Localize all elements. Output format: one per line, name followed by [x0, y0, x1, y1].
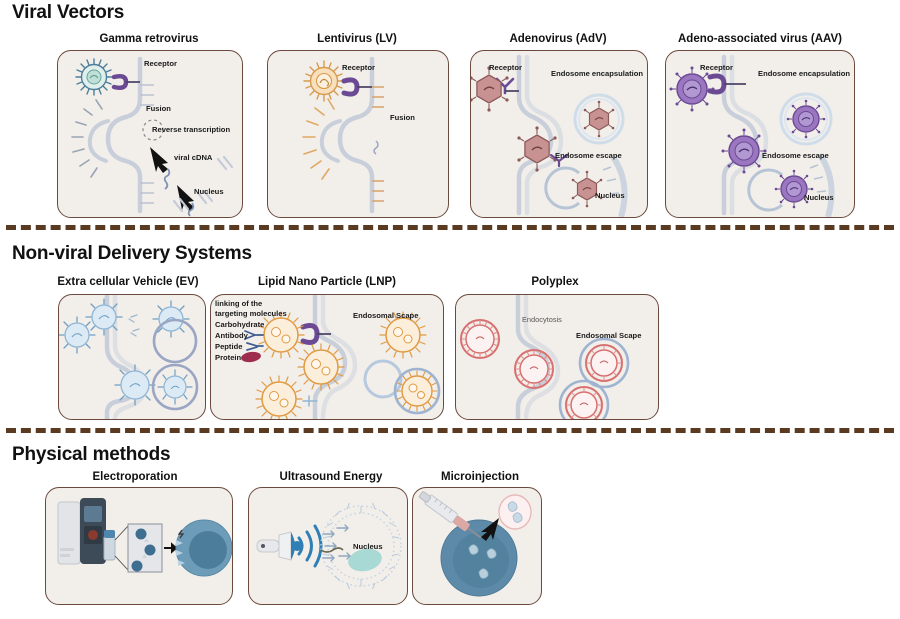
panel-polyplex: Endocytosis Endosomal Scape — [455, 294, 659, 420]
lnp-list-line-4: Antibody — [215, 331, 248, 340]
panel-title-lentivirus: Lentivirus (LV) — [265, 33, 449, 45]
lnp-list-line-5: Peptide — [215, 342, 242, 351]
label-receptor-lenti: Receptor — [342, 63, 375, 72]
lnp-list-line-3: Carbohydrate — [215, 320, 264, 329]
lnp-list-line-6: Protein — [215, 353, 241, 362]
panel-title-adenovirus: Adenovirus (AdV) — [468, 33, 648, 45]
section-divider-2 — [6, 428, 894, 433]
section-title-viral-vectors: Viral Vectors — [12, 2, 124, 24]
label-receptor-adv: Receptor — [489, 63, 522, 72]
label-endosome-escape-adv: Endosome escape — [555, 151, 622, 160]
label-endosomal-scape-polyplex: Endosomal Scape — [576, 331, 641, 340]
panel-title-microinjection: Microinjection — [412, 471, 548, 483]
panel-aav: Receptor Endosome encapsulation Endosome… — [665, 50, 855, 218]
panel-adenovirus: Receptor Endosome encapsulation Endosome… — [470, 50, 648, 218]
lnp-list-line-2: targeting molecules — [215, 309, 287, 318]
label-viral-cdna: viral cDNA — [174, 153, 212, 162]
panel-title-polyplex: Polyplex — [455, 276, 655, 288]
label-endosome-escape-aav: Endosome escape — [762, 151, 829, 160]
label-receptor-aav: Receptor — [700, 63, 733, 72]
label-endocytosis-polyplex: Endocytosis — [522, 315, 562, 324]
panel-electroporation — [45, 487, 233, 605]
panel-title-electroporation: Electroporation — [42, 471, 228, 483]
section-title-non-viral: Non-viral Delivery Systems — [12, 243, 252, 265]
label-fusion-lenti: Fusion — [390, 113, 415, 122]
panel-extracellular-vehicle — [58, 294, 206, 420]
panel-title-ultrasound: Ultrasound Energy — [248, 471, 414, 483]
label-nucleus-aav: Nucleus — [804, 193, 834, 202]
label-reverse-transcription: Reverse transcription — [152, 125, 230, 134]
label-endosome-encapsulation-adv: Endosome encapsulation — [551, 69, 643, 78]
panel-title-gamma-retrovirus: Gamma retrovirus — [55, 33, 243, 45]
panel-title-aav: Adeno-associated virus (AAV) — [662, 33, 858, 45]
label-nucleus-gamma: Nucleus — [194, 187, 224, 196]
label-nucleus-ultrasound: Nucleus — [353, 542, 383, 551]
label-fusion-gamma: Fusion — [146, 104, 171, 113]
panel-gamma-retrovirus: Receptor Fusion Reverse transcription vi… — [57, 50, 243, 218]
panel-ultrasound-energy: Nucleus — [248, 487, 408, 605]
panel-title-lnp: Lipid Nano Particle (LNP) — [212, 276, 442, 288]
panel-lipid-nano-particle: linking of the targeting molecules Carbo… — [210, 294, 444, 420]
label-endosomal-scape-lnp: Endosomal Scape — [353, 311, 418, 320]
section-title-physical-methods: Physical methods — [12, 444, 170, 466]
section-divider-1 — [6, 225, 894, 230]
label-nucleus-adv: Nucleus — [595, 191, 625, 200]
lnp-list-line-1: linking of the — [215, 299, 262, 308]
label-endosome-encapsulation-aav: Endosome encapsulation — [758, 69, 850, 78]
label-receptor-gamma: Receptor — [144, 59, 177, 68]
panel-microinjection — [412, 487, 542, 605]
panel-title-ev: Extra cellular Vehicle (EV) — [52, 276, 204, 288]
panel-lentivirus: Receptor Fusion — [267, 50, 449, 218]
